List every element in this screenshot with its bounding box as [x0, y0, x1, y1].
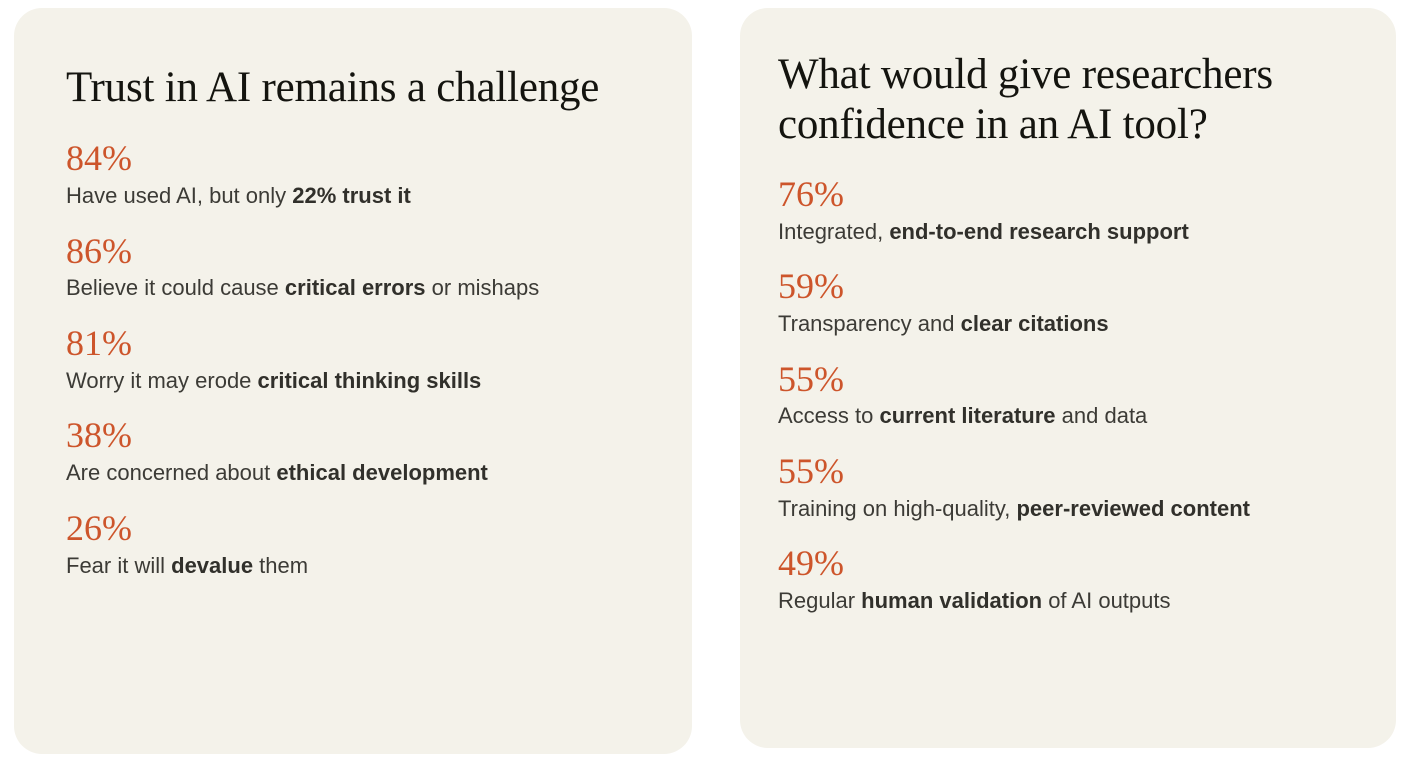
stat-item: 55% Training on high-quality, peer-revie… [778, 453, 1362, 523]
stat-description: Transparency and clear citations [778, 310, 1362, 339]
stat-item: 26% Fear it will devalue them [66, 510, 652, 580]
stat-item: 84% Have used AI, but only 22% trust it [66, 140, 652, 210]
stat-description: Believe it could cause critical errors o… [66, 274, 652, 303]
stat-value: 49% [778, 545, 1362, 583]
stat-item: 76% Integrated, end-to-end research supp… [778, 176, 1362, 246]
stat-item: 86% Believe it could cause critical erro… [66, 233, 652, 303]
card-title: Trust in AI remains a challenge [66, 64, 652, 112]
stat-description: Training on high-quality, peer-reviewed … [778, 495, 1362, 524]
stat-description: Have used AI, but only 22% trust it [66, 182, 652, 211]
stat-value: 38% [66, 417, 652, 455]
stat-value: 55% [778, 361, 1362, 399]
stat-value: 26% [66, 510, 652, 548]
stat-list: 76% Integrated, end-to-end research supp… [778, 176, 1362, 616]
stat-value: 81% [66, 325, 652, 363]
stat-item: 81% Worry it may erode critical thinking… [66, 325, 652, 395]
stat-description: Fear it will devalue them [66, 552, 652, 581]
stat-item: 38% Are concerned about ethical developm… [66, 417, 652, 487]
stat-description: Worry it may erode critical thinking ski… [66, 367, 652, 396]
stat-item: 55% Access to current literature and dat… [778, 361, 1362, 431]
stat-value: 76% [778, 176, 1362, 214]
stat-list: 84% Have used AI, but only 22% trust it … [66, 140, 652, 580]
stat-item: 49% Regular human validation of AI outpu… [778, 545, 1362, 615]
stat-value: 84% [66, 140, 652, 178]
stat-value: 59% [778, 268, 1362, 306]
card-researcher-confidence: What would give researchers confidence i… [740, 8, 1396, 748]
card-trust-in-ai: Trust in AI remains a challenge 84% Have… [14, 8, 692, 754]
stat-value: 86% [66, 233, 652, 271]
stat-description: Regular human validation of AI outputs [778, 587, 1362, 616]
infographic-board: Trust in AI remains a challenge 84% Have… [0, 0, 1418, 766]
stat-value: 55% [778, 453, 1362, 491]
stat-item: 59% Transparency and clear citations [778, 268, 1362, 338]
stat-description: Are concerned about ethical development [66, 459, 652, 488]
stat-description: Integrated, end-to-end research support [778, 218, 1362, 247]
card-title: What would give researchers confidence i… [778, 50, 1362, 150]
stat-description: Access to current literature and data [778, 402, 1362, 431]
